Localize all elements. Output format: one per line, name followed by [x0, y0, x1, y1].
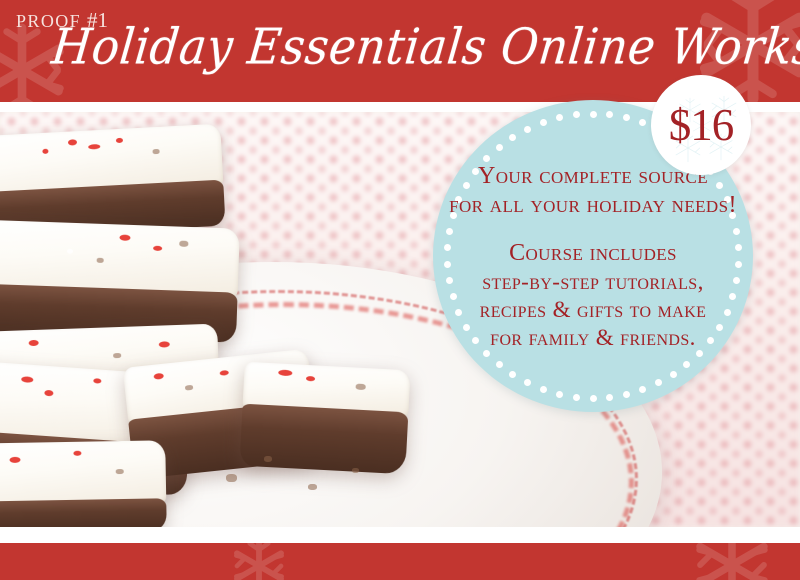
peppermint-chip	[153, 246, 162, 251]
border-dot	[606, 111, 613, 118]
promo-card: PROOF #1 Holiday Essentials Online Works…	[0, 0, 800, 580]
chocolate-layer	[239, 404, 408, 475]
border-dot	[496, 144, 503, 151]
border-dot	[639, 386, 646, 393]
info-line-2: for all your holiday needs!	[433, 191, 753, 220]
border-dot	[483, 155, 490, 162]
info-line-5: recipes & gifts to make	[433, 296, 753, 324]
crumb	[116, 469, 124, 474]
peppermint-chip	[119, 235, 130, 241]
border-dot	[573, 111, 580, 118]
border-dot	[655, 379, 662, 386]
bark-piece	[0, 440, 167, 527]
border-dot	[509, 134, 516, 141]
crumb	[152, 149, 159, 154]
border-dot	[623, 114, 630, 121]
border-dot	[496, 361, 503, 368]
border-dot	[683, 361, 690, 368]
crumb	[352, 468, 359, 473]
border-dot	[540, 119, 547, 126]
border-dot	[556, 391, 563, 398]
price-amount: $16	[651, 75, 751, 175]
border-dot	[590, 111, 597, 118]
text-spacer	[433, 221, 753, 239]
frosting-layer	[0, 440, 166, 507]
border-dot	[606, 394, 613, 401]
info-line-3: Course includes	[433, 239, 753, 268]
page-title: Holiday Essentials Online Workshop	[47, 1, 737, 95]
chocolate-layer	[0, 498, 167, 527]
border-dot	[524, 379, 531, 386]
crumb	[226, 474, 237, 482]
price-badge: $16	[651, 75, 751, 175]
border-dot	[556, 114, 563, 121]
crumb	[356, 384, 366, 391]
peppermint-chip	[306, 376, 315, 381]
crumb	[308, 484, 317, 490]
crumb	[113, 353, 121, 358]
info-line-4: step-by-step tutorials,	[433, 268, 753, 296]
footer-banner	[0, 543, 800, 580]
snowflake-icon	[230, 543, 288, 580]
border-dot	[623, 391, 630, 398]
crumb	[179, 241, 188, 247]
border-dot	[590, 395, 597, 402]
bark-piece	[0, 219, 240, 340]
snowflake-icon	[690, 543, 774, 580]
info-line-6: for family & friends.	[433, 324, 753, 352]
divider-bottom	[0, 527, 800, 543]
info-text: Your complete source for all your holida…	[433, 162, 753, 352]
border-dot	[540, 386, 547, 393]
bark-piece	[0, 124, 225, 237]
border-dot	[639, 119, 646, 126]
crumb	[97, 258, 104, 263]
border-dot	[573, 394, 580, 401]
crumb	[264, 456, 272, 462]
border-dot	[670, 371, 677, 378]
border-dot	[524, 126, 531, 133]
border-dot	[509, 371, 516, 378]
